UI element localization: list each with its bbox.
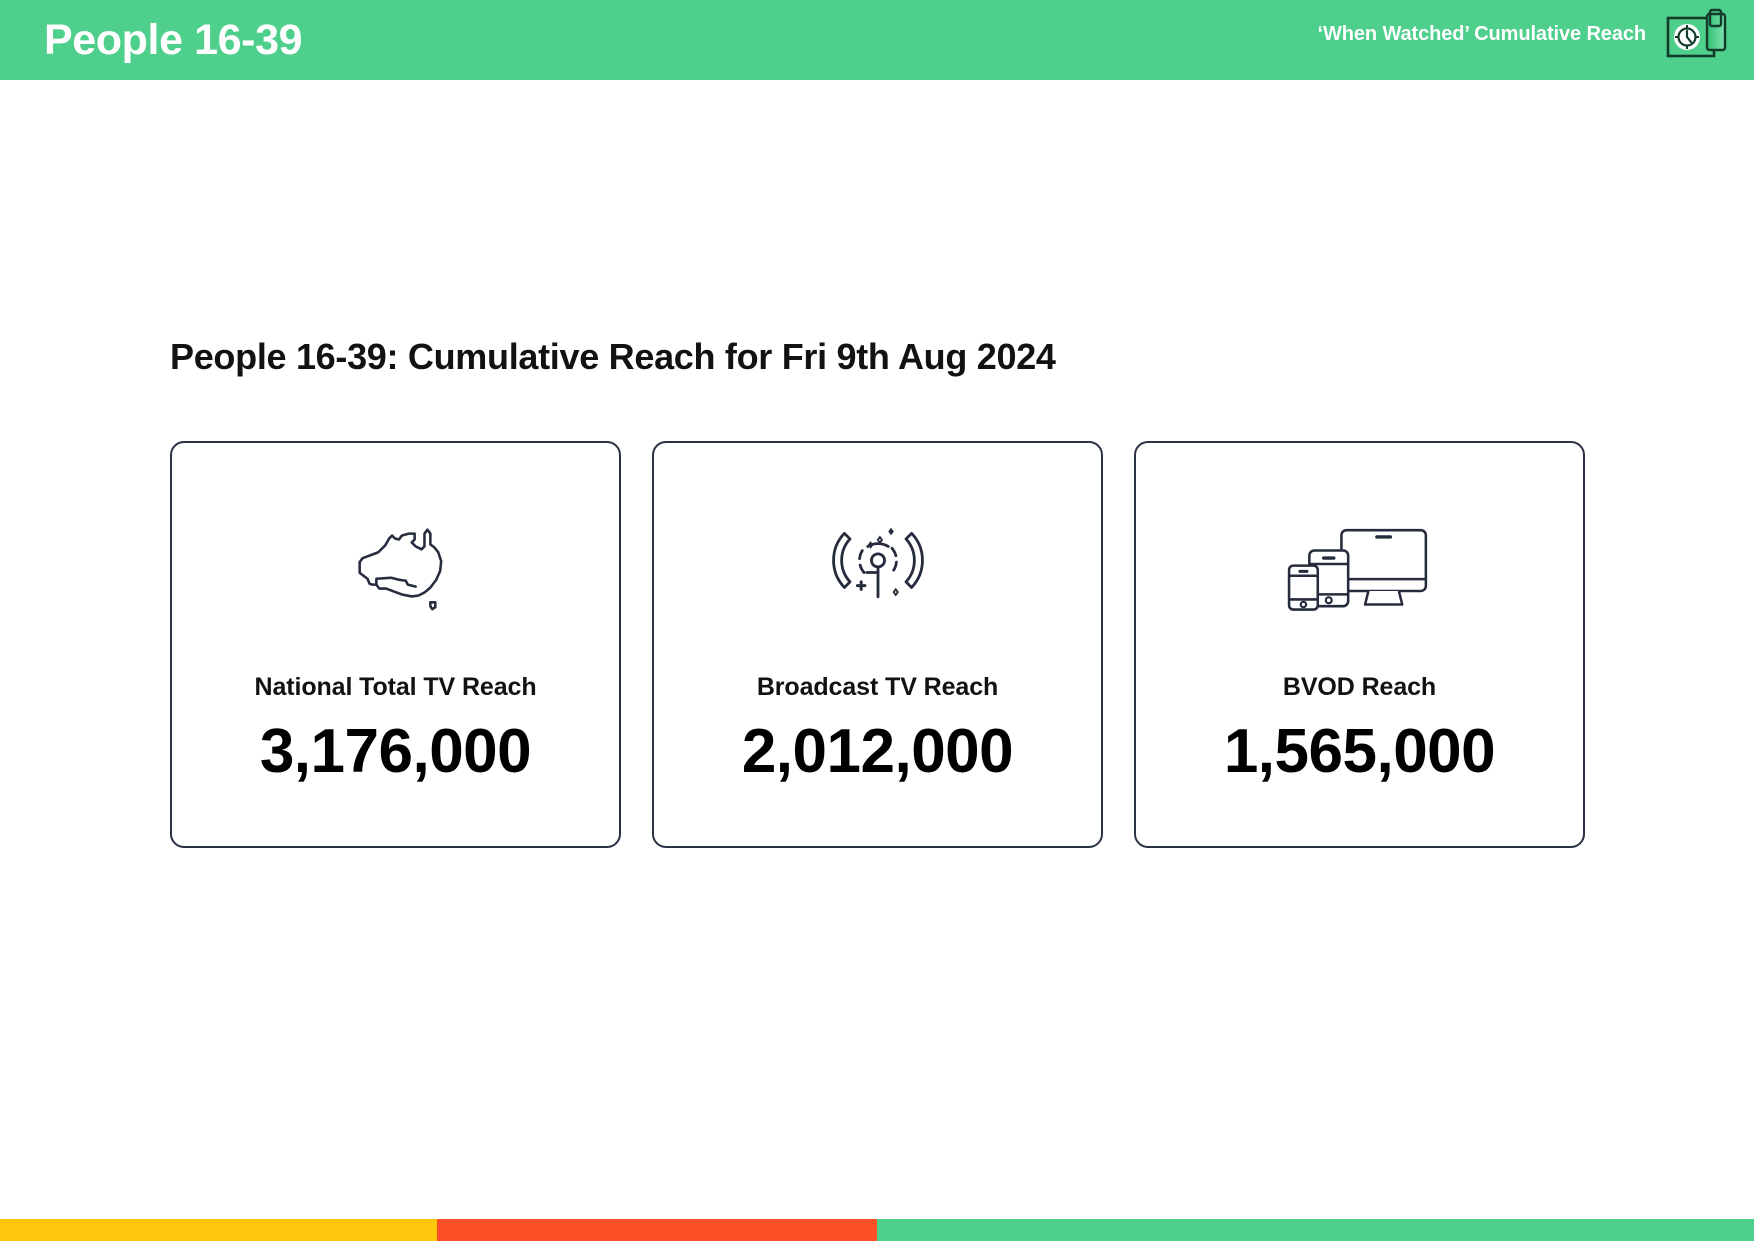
header-right-group: ‘When Watched’ Cumulative Reach — [1318, 11, 1730, 69]
footer-color-bar — [0, 1219, 1754, 1241]
metric-card-value: 2,012,000 — [742, 716, 1013, 787]
metric-card-bvod[interactable]: BVOD Reach 1,565,000 — [1134, 441, 1585, 848]
footer-segment-yellow — [0, 1219, 437, 1241]
metric-card-label: National Total TV Reach — [254, 673, 536, 702]
slide-root: People 16-39 ‘When Watched’ Cumulative R… — [0, 0, 1754, 1241]
multi-devices-icon — [1284, 511, 1436, 621]
metric-card-national-total-tv[interactable]: National Total TV Reach 3,176,000 — [170, 441, 621, 848]
broadcast-signal-icon — [822, 511, 934, 621]
metric-card-broadcast-tv[interactable]: Broadcast TV Reach 2,012,000 — [652, 441, 1103, 848]
metric-card-value: 3,176,000 — [260, 716, 531, 787]
page-title: People 16-39 — [44, 19, 302, 62]
footer-segment-green — [877, 1219, 1754, 1241]
clock-screen-logo-icon — [1664, 8, 1730, 66]
metric-card-value: 1,565,000 — [1224, 716, 1495, 787]
metric-card-label: Broadcast TV Reach — [757, 673, 998, 702]
header-bar: People 16-39 ‘When Watched’ Cumulative R… — [0, 0, 1754, 80]
australia-map-icon — [337, 511, 455, 621]
header-subtitle: ‘When Watched’ Cumulative Reach — [1318, 23, 1646, 46]
metric-card-label: BVOD Reach — [1283, 673, 1436, 702]
footer-segment-orange — [437, 1219, 877, 1241]
metric-cards-row: National Total TV Reach 3,176,000 — [170, 441, 1585, 848]
section-title: People 16-39: Cumulative Reach for Fri 9… — [170, 336, 1056, 378]
